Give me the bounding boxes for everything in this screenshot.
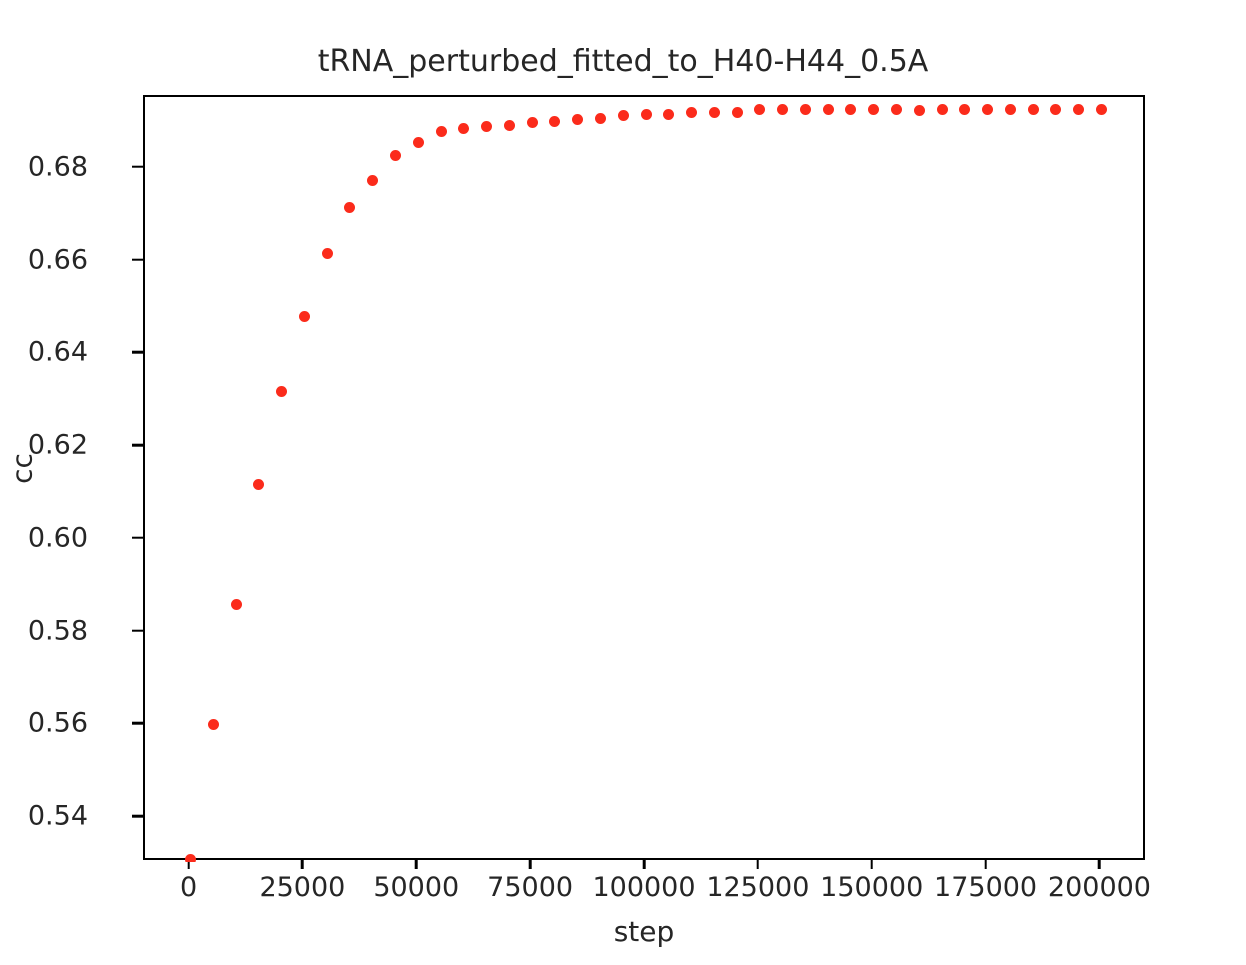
data-point <box>982 104 993 115</box>
data-point <box>732 107 743 118</box>
y-tick-label: 0.58 <box>28 615 88 646</box>
x-tick-label: 0 <box>180 872 197 903</box>
data-point <box>504 120 515 131</box>
x-tick-label: 125000 <box>706 872 809 903</box>
data-point <box>777 104 788 115</box>
y-tick-mark <box>132 166 143 169</box>
data-point <box>1050 104 1061 115</box>
y-tick-label: 0.60 <box>28 522 88 553</box>
y-tick-mark <box>132 536 143 539</box>
data-point <box>367 175 378 186</box>
data-point <box>959 104 970 115</box>
data-point <box>823 104 834 115</box>
data-point <box>390 150 401 161</box>
data-point <box>253 479 264 490</box>
x-tick-label: 75000 <box>487 872 573 903</box>
x-tick-label: 150000 <box>820 872 923 903</box>
y-tick-label: 0.64 <box>28 337 88 368</box>
data-point <box>891 104 902 115</box>
x-axis-label: step <box>143 915 1145 948</box>
data-point <box>868 104 879 115</box>
y-tick-label: 0.66 <box>28 244 88 275</box>
data-point <box>344 202 355 213</box>
data-point <box>595 113 606 124</box>
data-point <box>322 248 333 259</box>
data-point <box>914 105 925 116</box>
y-tick-mark <box>132 815 143 818</box>
data-point <box>208 719 219 730</box>
data-point <box>686 107 697 118</box>
y-tick-label: 0.56 <box>28 708 88 739</box>
chart-figure: tRNA_perturbed_fitted_to_H40-H44_0.5A cc… <box>0 0 1246 965</box>
data-point <box>572 114 583 125</box>
data-point <box>800 104 811 115</box>
x-tick-label: 175000 <box>934 872 1037 903</box>
x-tick-label: 25000 <box>259 872 345 903</box>
data-point <box>299 311 310 322</box>
data-point <box>1096 104 1107 115</box>
data-point <box>481 121 492 132</box>
x-tick-label: 50000 <box>373 872 459 903</box>
y-tick-mark <box>132 258 143 261</box>
data-point <box>458 123 469 134</box>
data-point <box>276 386 287 397</box>
data-point <box>845 104 856 115</box>
y-tick-mark <box>132 722 143 725</box>
data-point <box>185 854 196 862</box>
data-point <box>413 137 424 148</box>
data-point <box>231 599 242 610</box>
x-tick-label: 100000 <box>592 872 695 903</box>
chart-title: tRNA_perturbed_fitted_to_H40-H44_0.5A <box>0 44 1246 79</box>
y-tick-mark <box>132 351 143 354</box>
data-point <box>663 109 674 120</box>
data-point <box>937 104 948 115</box>
data-point <box>754 104 765 115</box>
x-tick-label: 200000 <box>1048 872 1151 903</box>
y-tick-label: 0.68 <box>28 151 88 182</box>
data-point <box>641 109 652 120</box>
data-point <box>549 116 560 127</box>
data-point <box>1005 104 1016 115</box>
y-tick-label: 0.54 <box>28 800 88 831</box>
data-point <box>1028 104 1039 115</box>
data-point <box>709 107 720 118</box>
y-tick-label: 0.62 <box>28 430 88 461</box>
y-tick-mark <box>132 629 143 632</box>
data-point <box>527 117 538 128</box>
y-tick-mark <box>132 444 143 447</box>
scatter-series <box>145 97 1147 862</box>
data-point <box>1073 104 1084 115</box>
plot-area <box>143 95 1145 860</box>
data-point <box>618 110 629 121</box>
data-point <box>436 126 447 137</box>
